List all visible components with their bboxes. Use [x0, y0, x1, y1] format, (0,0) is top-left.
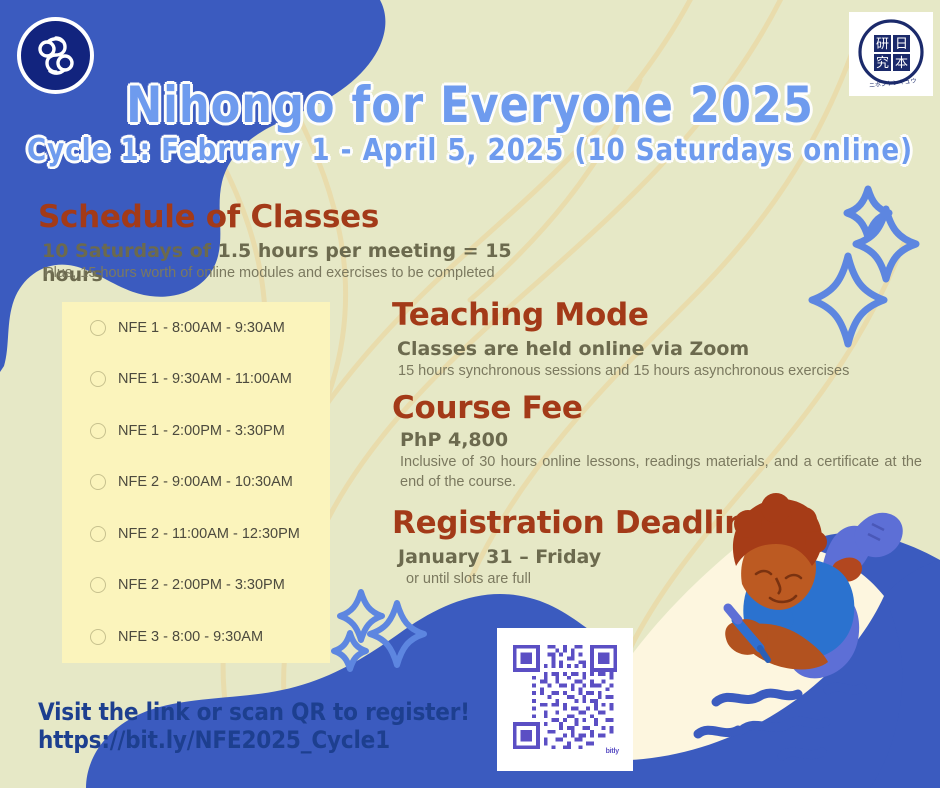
- registration-link[interactable]: https://bit.ly/NFE2025_Cycle1: [38, 726, 508, 754]
- course-fee-heading: Course Fee: [392, 391, 583, 425]
- schedule-options-box: NFE 1 - 8:00AM - 9:30AM NFE 1 - 9:30AM -…: [62, 302, 330, 663]
- schedule-heading: Schedule of Classes: [38, 200, 458, 234]
- radio-icon[interactable]: [90, 320, 106, 336]
- list-item-label: NFE 1 - 9:30AM - 11:00AM: [118, 371, 292, 387]
- teaching-mode-heading: Teaching Mode: [392, 298, 649, 332]
- list-item[interactable]: NFE 2 - 9:00AM - 10:30AM: [62, 457, 330, 509]
- radio-icon[interactable]: [90, 423, 106, 439]
- list-item[interactable]: NFE 1 - 9:30AM - 11:00AM: [62, 354, 330, 406]
- radio-icon[interactable]: [90, 629, 106, 645]
- list-item[interactable]: NFE 3 - 8:00 - 9:30AM: [62, 611, 330, 663]
- title-block: Nihongo for Everyone 2025 Cycle 1: Febru…: [0, 78, 940, 168]
- page-subtitle: Cycle 1: February 1 - April 5, 2025 (10 …: [14, 134, 926, 168]
- registration-qr-code[interactable]: bitly: [497, 628, 633, 771]
- svg-text:日: 日: [895, 37, 908, 52]
- list-item[interactable]: NFE 2 - 11:00AM - 12:30PM: [62, 508, 330, 560]
- registration-fine-print: or until slots are full: [406, 569, 531, 589]
- radio-icon[interactable]: [90, 577, 106, 593]
- list-item[interactable]: NFE 2 - 2:00PM - 3:30PM: [62, 560, 330, 612]
- course-fee-fine-print: Inclusive of 30 hours online lessons, re…: [400, 452, 922, 492]
- svg-text:本: 本: [895, 56, 908, 71]
- page-title: Nihongo for Everyone 2025: [19, 78, 921, 132]
- list-item-label: NFE 2 - 2:00PM - 3:30PM: [118, 577, 285, 593]
- schedule-fine-print: Plus, 15 hours worth of online modules a…: [44, 263, 604, 283]
- registration-date: January 31 – Friday: [398, 545, 601, 569]
- cta-block: Visit the link or scan QR to register! h…: [38, 698, 508, 754]
- list-item-label: NFE 2 - 11:00AM - 12:30PM: [118, 526, 300, 542]
- list-item[interactable]: NFE 1 - 8:00AM - 9:30AM: [62, 302, 330, 354]
- radio-icon[interactable]: [90, 371, 106, 387]
- registration-heading: Registration Deadline: [392, 506, 767, 540]
- list-item-label: NFE 3 - 8:00 - 9:30AM: [118, 629, 263, 645]
- svg-text:究: 究: [876, 56, 889, 71]
- list-item-label: NFE 1 - 2:00PM - 3:30PM: [118, 423, 285, 439]
- radio-icon[interactable]: [90, 474, 106, 490]
- list-item-label: NFE 1 - 8:00AM - 9:30AM: [118, 320, 285, 336]
- teaching-mode-fine-print: 15 hours synchronous sessions and 15 hou…: [398, 361, 918, 381]
- teaching-mode-subheading: Classes are held online via Zoom: [397, 337, 749, 361]
- radio-icon[interactable]: [90, 526, 106, 542]
- bitly-brand-label: bitly: [606, 748, 619, 755]
- list-item-label: NFE 2 - 9:00AM - 10:30AM: [118, 474, 293, 490]
- course-fee-amount: PhP 4,800: [400, 428, 508, 452]
- cta-line1: Visit the link or scan QR to register!: [38, 698, 470, 726]
- poster-canvas: 研 日 究 本 ニホンケンキュウ Nihongo for Everyone 20…: [0, 0, 940, 788]
- svg-text:研: 研: [876, 37, 889, 52]
- list-item[interactable]: NFE 1 - 2:00PM - 3:30PM: [62, 405, 330, 457]
